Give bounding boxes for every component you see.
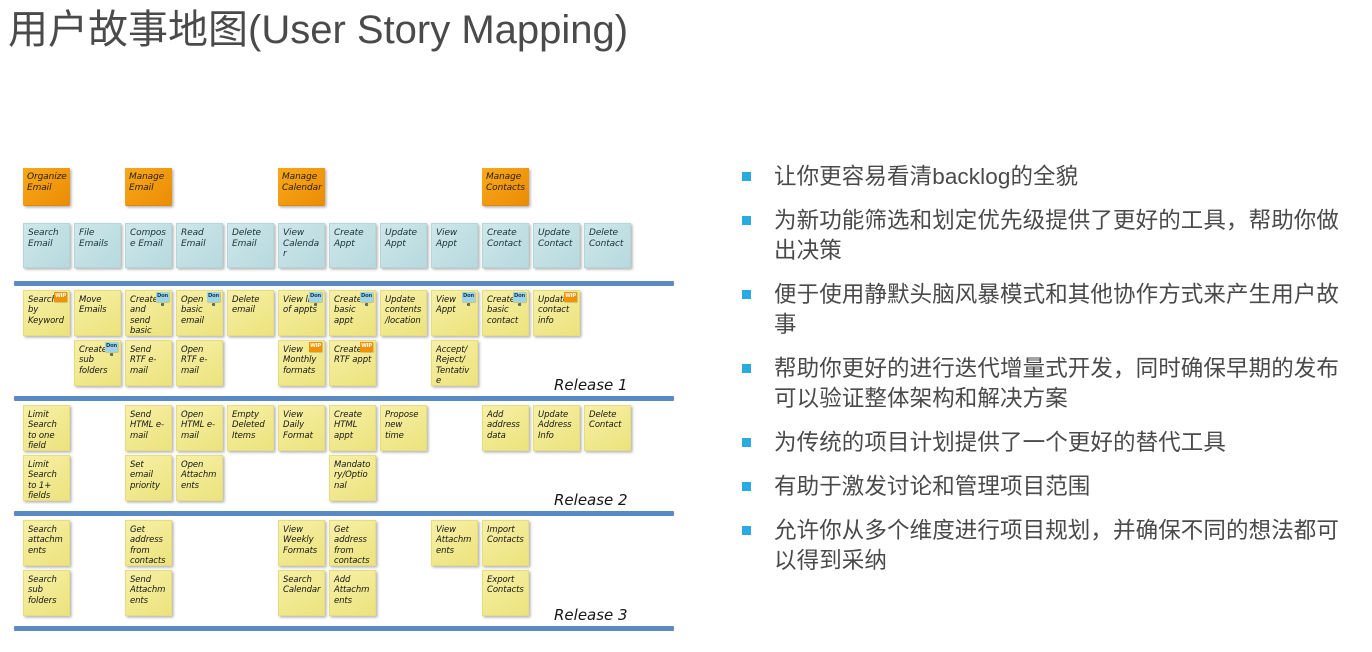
story-sticky-note[interactable]: Open basic emailDone <box>176 290 223 336</box>
story-sticky-note[interactable]: Empty Deleted Items <box>227 405 274 451</box>
bullet-square-icon <box>742 438 751 447</box>
story-sticky-note[interactable]: Create and send basic emailDone <box>125 290 172 336</box>
release-divider-bar <box>14 511 674 516</box>
sticky-note-label: Get address from contacts <box>334 525 369 566</box>
sticky-note-label: View Daily Format <box>283 410 313 441</box>
bullet-text: 允许你从多个维度进行项目规划，并确保不同的想法都可以得到采纳 <box>774 516 1360 576</box>
bullet-item: 便于使用静默头脑风暴模式和其他协作方式来产生用户故事 <box>742 280 1360 340</box>
sticky-note-label: Send HTML e-mail <box>130 410 164 441</box>
story-sticky-note[interactable]: Limit Search to one field <box>23 405 70 451</box>
sticky-note-label: View Appt <box>436 295 456 315</box>
sticky-note-label: Move Emails <box>79 295 106 315</box>
sticky-note-label: Delete Contact <box>589 228 623 249</box>
sticky-note-label: Create Contact <box>487 228 521 249</box>
release-divider-bar <box>14 396 674 401</box>
sticky-note-label: Set email priority <box>130 460 160 491</box>
story-sticky-note[interactable]: Set email priority <box>125 455 172 501</box>
sticky-note-label: Compose Email <box>130 228 166 249</box>
sticky-note-label: Open RTF e-mail <box>181 345 207 376</box>
story-sticky-note[interactable]: Search sub folders <box>23 570 70 616</box>
sticky-note-label: Open basic email <box>181 295 204 326</box>
done-status-tag: Done <box>207 292 220 302</box>
sticky-note-label: Update Appt <box>385 228 417 249</box>
sticky-note-label: Delete Contact <box>589 410 621 430</box>
sticky-note-label: Open HTML e-mail <box>181 410 215 441</box>
release-divider-bar <box>14 281 674 286</box>
story-sticky-note[interactable]: Import Contacts <box>482 520 529 566</box>
story-sticky-note[interactable]: Limit Search to 1+ fields <box>23 455 70 501</box>
goal-sticky-note[interactable]: Manage Calendar <box>278 168 325 206</box>
story-sticky-note[interactable]: Open HTML e-mail <box>176 405 223 451</box>
activity-sticky-note[interactable]: Delete Email <box>227 223 274 268</box>
story-sticky-note[interactable]: Create HTML appt <box>329 405 376 451</box>
sticky-note-label: Limit Search to 1+ fields <box>28 460 57 501</box>
story-sticky-note[interactable]: Delete email <box>227 290 274 336</box>
bullet-item: 允许你从多个维度进行项目规划，并确保不同的想法都可以得到采纳 <box>742 516 1360 576</box>
sticky-note-label: Add address data <box>487 410 520 441</box>
user-story-map: Organize EmailManage EmailManage Calenda… <box>14 160 674 620</box>
bullet-item: 有助于激发讨论和管理项目范围 <box>742 472 1360 502</box>
sticky-note-label: Search sub folders <box>28 575 57 606</box>
sticky-note-label: Delete email <box>232 295 259 315</box>
wip-status-tag: WIP <box>360 342 373 352</box>
sticky-note-label: Propose new time <box>385 410 418 441</box>
activity-sticky-note[interactable]: View Appt <box>431 223 478 268</box>
bullet-square-icon <box>742 290 751 299</box>
story-sticky-note[interactable]: Move Emails <box>74 290 121 336</box>
sticky-note-label: Search Calendar <box>283 575 320 595</box>
page-title: 用户故事地图(User Story Mapping) <box>8 4 628 56</box>
bullet-text: 帮助你更好的进行迭代增量式开发，同时确保早期的发布可以验证整体架构和解决方案 <box>774 354 1360 414</box>
sticky-note-label: Delete Email <box>232 228 261 249</box>
sticky-note-label: View Appt <box>436 228 457 249</box>
story-sticky-note[interactable]: Propose new time <box>380 405 427 451</box>
story-sticky-note[interactable]: Search by KeywordWIP <box>23 290 70 336</box>
sticky-note-label: Send RTF e-mail <box>130 345 156 376</box>
sticky-note-label: Open Attachments <box>181 460 216 491</box>
activity-sticky-note[interactable]: Create Appt <box>329 223 376 268</box>
sticky-note-label: Create Appt <box>334 228 364 249</box>
sticky-note-label: Update Address Info <box>538 410 572 441</box>
story-sticky-note[interactable]: Add address data <box>482 405 529 451</box>
story-sticky-note[interactable]: View Daily Format <box>278 405 325 451</box>
sticky-note-label: Limit Search to one field <box>28 410 57 451</box>
release-label: Release 1 <box>554 376 628 394</box>
story-sticky-note[interactable]: Send RTF e-mail <box>125 340 172 386</box>
done-status-tag: Done <box>105 342 118 352</box>
activity-sticky-note[interactable]: File Emails <box>74 223 121 268</box>
story-sticky-note[interactable]: Create basic apptDone <box>329 290 376 336</box>
bullet-square-icon <box>742 172 751 181</box>
story-sticky-note[interactable]: Search Calendar <box>278 570 325 616</box>
benefits-bullet-list: 让你更容易看清backlog的全貌为新功能筛选和划定优先级提供了更好的工具，帮助… <box>742 162 1360 590</box>
sticky-note-label: View Weekly Formats <box>283 525 317 556</box>
bullet-square-icon <box>742 526 751 535</box>
sticky-note-label: Update Contact <box>538 228 572 249</box>
wip-status-tag: WIP <box>564 292 577 302</box>
activity-sticky-note[interactable]: Search Email <box>23 223 70 268</box>
sticky-note-label: Manage Email <box>129 172 164 193</box>
story-sticky-note[interactable]: View ApptDone <box>431 290 478 336</box>
activity-sticky-note[interactable]: Delete Contact <box>584 223 631 268</box>
sticky-note-label: Get address from contacts <box>130 525 165 566</box>
story-sticky-note[interactable]: View list of apptsDone <box>278 290 325 336</box>
bullet-square-icon <box>742 364 751 373</box>
done-status-tag: Done <box>462 292 475 302</box>
sticky-note-label: Send Attachments <box>130 575 165 606</box>
story-sticky-note[interactable]: Get address from contacts <box>125 520 172 566</box>
story-sticky-note[interactable]: Mandatory/Optional <box>329 455 376 501</box>
story-sticky-note[interactable]: Get address from contacts <box>329 520 376 566</box>
activity-sticky-note[interactable]: View Calendar <box>278 223 325 268</box>
story-sticky-note[interactable]: Search attachments <box>23 520 70 566</box>
release-divider-bar <box>14 626 674 631</box>
story-sticky-note[interactable]: Send Attachments <box>125 570 172 616</box>
done-status-tag: Done <box>156 292 169 302</box>
story-sticky-note[interactable]: Accept/ Reject/ Tentative <box>431 340 478 386</box>
bullet-item: 让你更容易看清backlog的全貌 <box>742 162 1360 192</box>
sticky-note-label: Import Contacts <box>487 525 524 545</box>
activity-sticky-note[interactable]: Create Contact <box>482 223 529 268</box>
bullet-text: 有助于激发讨论和管理项目范围 <box>774 472 1090 502</box>
sticky-note-label: Search attachments <box>28 525 63 556</box>
story-sticky-note[interactable]: Add Attachments <box>329 570 376 616</box>
story-sticky-note[interactable]: View Monthly formatsWIP <box>278 340 325 386</box>
done-status-tag: Done <box>309 292 322 302</box>
done-status-tag: Done <box>513 292 526 302</box>
sticky-note-label: Mandatory/Optional <box>334 460 370 491</box>
bullet-square-icon <box>742 216 751 225</box>
sticky-note-label: Create and send basic email <box>130 295 158 336</box>
activity-sticky-note[interactable]: Update Appt <box>380 223 427 268</box>
bullet-item: 为传统的项目计划提供了一个更好的替代工具 <box>742 428 1360 458</box>
sticky-note-label: Accept/ Reject/ Tentative <box>436 345 469 386</box>
sticky-note-label: View Attachments <box>436 525 471 556</box>
activity-sticky-note[interactable]: Read Email <box>176 223 223 268</box>
activity-sticky-note[interactable]: Compose Email <box>125 223 172 268</box>
story-sticky-note[interactable]: Update contents /location <box>380 290 427 336</box>
goal-sticky-note[interactable]: Manage Email <box>125 168 172 206</box>
sticky-note-label: Manage Contacts <box>486 172 525 193</box>
story-sticky-note[interactable]: Update Address Info <box>533 405 580 451</box>
sticky-note-label: Empty Deleted Items <box>232 410 265 441</box>
sticky-note-label: Export Contacts <box>487 575 524 595</box>
story-sticky-note[interactable]: Send HTML e-mail <box>125 405 172 451</box>
bullet-text: 为传统的项目计划提供了一个更好的替代工具 <box>774 428 1226 458</box>
bullet-item: 为新功能筛选和划定优先级提供了更好的工具，帮助你做出决策 <box>742 206 1360 266</box>
sticky-note-label: Create sub folders <box>79 345 107 376</box>
story-sticky-note[interactable]: Create RTF apptWIP <box>329 340 376 386</box>
story-sticky-note[interactable]: View Weekly Formats <box>278 520 325 566</box>
sticky-note-label: Create basic appt <box>334 295 362 326</box>
story-sticky-note[interactable]: Open Attachments <box>176 455 223 501</box>
sticky-note-label: File Emails <box>79 228 108 249</box>
bullet-text: 便于使用静默头脑风暴模式和其他协作方式来产生用户故事 <box>774 280 1360 340</box>
sticky-note-label: Read Email <box>181 228 205 249</box>
goal-sticky-note[interactable]: Organize Email <box>23 168 70 206</box>
release-label: Release 3 <box>554 606 628 624</box>
sticky-note-label: View Calendar <box>283 228 319 259</box>
sticky-note-label: Create HTML appt <box>334 410 362 441</box>
story-sticky-note[interactable]: Create basic contactDone <box>482 290 529 336</box>
release-label: Release 2 <box>554 491 628 509</box>
bullet-item: 帮助你更好的进行迭代增量式开发，同时确保早期的发布可以验证整体架构和解决方案 <box>742 354 1360 414</box>
bullet-square-icon <box>742 482 751 491</box>
story-sticky-note[interactable]: Delete Contact <box>584 405 631 451</box>
goal-sticky-note[interactable]: Manage Contacts <box>482 168 529 206</box>
activity-sticky-note[interactable]: Update Contact <box>533 223 580 268</box>
wip-status-tag: WIP <box>54 292 67 302</box>
story-sticky-note[interactable]: Open RTF e-mail <box>176 340 223 386</box>
story-sticky-note[interactable]: Update contact infoWIP <box>533 290 580 336</box>
sticky-note-label: Search Email <box>28 228 59 249</box>
sticky-note-label: Add Attachments <box>334 575 369 606</box>
wip-status-tag: WIP <box>309 342 322 352</box>
done-status-tag: Done <box>360 292 373 302</box>
bullet-text: 为新功能筛选和划定优先级提供了更好的工具，帮助你做出决策 <box>774 206 1360 266</box>
story-sticky-note[interactable]: Export Contacts <box>482 570 529 616</box>
bullet-text: 让你更容易看清backlog的全貌 <box>774 162 1078 192</box>
sticky-note-label: Manage Calendar <box>282 172 322 193</box>
sticky-note-label: Update contents /location <box>385 295 421 326</box>
sticky-note-label: Organize Email <box>27 172 67 193</box>
story-sticky-note[interactable]: Create sub foldersDone <box>74 340 121 386</box>
story-sticky-note[interactable]: View Attachments <box>431 520 478 566</box>
